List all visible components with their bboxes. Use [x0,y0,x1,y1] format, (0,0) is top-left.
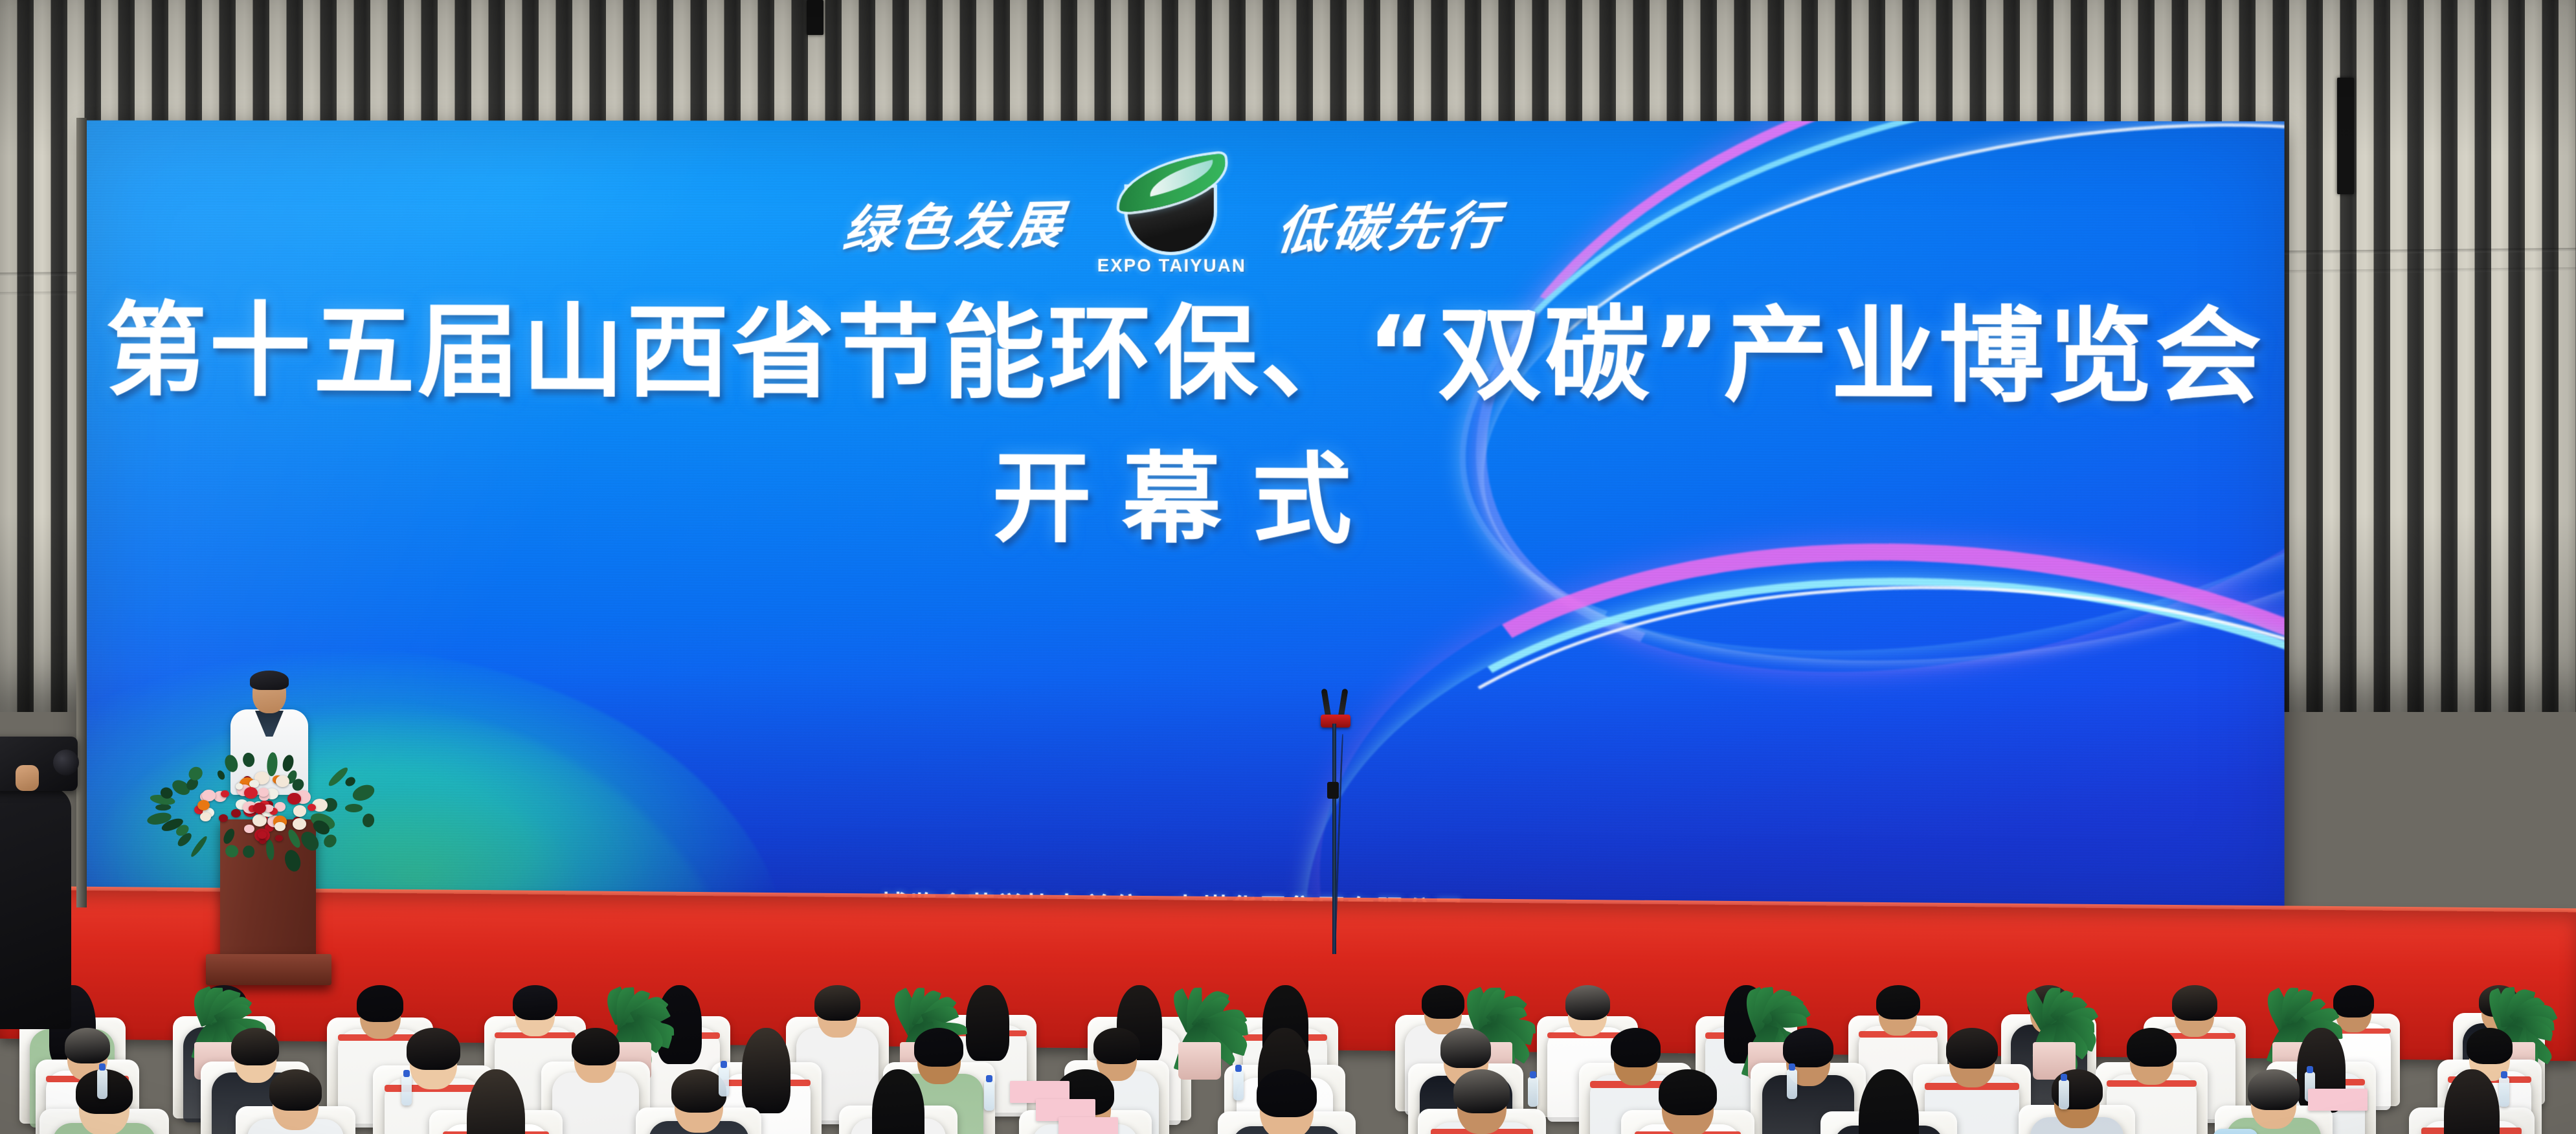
water-bottle [2499,1077,2509,1107]
audience-member [443,1069,550,1134]
water-bottle [97,1069,107,1099]
flower-bloom [221,790,229,798]
expo-main-title: 第十五届山西省节能环保、“双碳”产业博览会 [86,268,2285,423]
audience-member-hair [1257,1069,1317,1117]
plant-pot [1178,1042,1221,1080]
camera-operator [0,725,83,1029]
flower-bloom [231,809,241,817]
audience-member-hair [2248,1069,2300,1110]
flower-foliage [286,828,302,849]
audience-member-hair [513,985,557,1020]
audience-member-hair [2127,1028,2176,1067]
audience-member-hair [1440,1028,1492,1068]
flower-bloom [219,814,228,822]
water-bottle [401,1076,412,1106]
audience-member-hair [2172,985,2217,1021]
flower-bloom [287,793,300,805]
audience-member [552,1028,639,1134]
flower-foliage [344,775,357,788]
flower-bloom [258,788,269,797]
flower-foliage [224,843,240,858]
flower-foliage [189,834,208,858]
audience-member-hair [1659,1069,1718,1115]
flower-bloom [276,775,289,787]
flower-bloom [259,838,266,845]
seat-name-card [2308,1089,2368,1111]
audience-member-hair [65,1028,110,1063]
water-bottle [1787,1069,1797,1099]
flower-bloom [308,804,316,811]
flower-bloom [244,825,254,834]
audience-member [2030,1069,2123,1134]
water-bottle [1233,1071,1244,1100]
audience-member-hair [1611,1028,1661,1067]
podium-flower-arrangement [174,747,357,869]
flower-foliage [241,752,254,768]
flower-bloom [200,812,210,821]
audience-member-hair [1093,1028,1139,1064]
audience-member [1834,1069,1943,1134]
led-backdrop-screen: 绿色发展 EXPO TAIYUAN 低碳先行 第十五届山西省节能环保、“双碳”产… [84,120,2285,924]
flower-bloom [293,805,306,816]
leaf-coal-icon [1113,155,1231,253]
operator-body [0,787,71,1029]
audience-area [0,875,2576,1134]
audience-member-hair [814,985,860,1021]
slogan-right: 低碳先行 [1273,184,1506,263]
audience-member [1635,1069,1742,1134]
audience-member [851,1069,946,1134]
audience-member-hair [231,1028,279,1065]
audience-member-hair [269,1069,322,1111]
slogan-left: 绿色发展 [840,184,1071,262]
flower-bloom [274,822,286,832]
audience-member-hair [1876,985,1920,1019]
flower-foliage [266,752,278,777]
audience-member-hair [2444,1069,2499,1134]
audience-member-hair [914,1028,963,1067]
flower-foliage [221,827,237,846]
flower-bloom [293,818,306,830]
flower-foliage [216,769,226,781]
audience-member [1232,1069,1342,1134]
ceremony-photo: 绿色发展 EXPO TAIYUAN 低碳先行 第十五届山西省节能环保、“双碳”产… [0,0,2576,1134]
speaker-hair [250,671,289,690]
water-bottle [1528,1077,1538,1107]
flower-foliage [243,845,255,858]
audience-member-hair [742,1028,790,1113]
flower-foliage [265,839,274,860]
audience-member-hair [2467,1028,2513,1064]
audience-member [1431,1069,1533,1134]
operator-hand [16,765,39,791]
audience-member [247,1069,344,1134]
flower-bloom [275,835,283,841]
audience-member-hair [1783,1028,1833,1067]
flower-bloom [236,783,243,789]
flower-foliage [223,753,240,773]
audience-member-hair [1946,1028,1998,1069]
audience-member [649,1069,749,1134]
audience-member-hair [407,1028,460,1070]
water-bottle [984,1081,994,1111]
ceiling-vent-slot [807,0,823,35]
ceiling-vent-slot [2337,78,2354,194]
audience-member-hair [1859,1069,1919,1134]
audience-member-hair [572,1028,620,1065]
flower-foliage [322,832,339,850]
camera-lens-icon [53,750,79,775]
audience-member-hair [1453,1069,1510,1113]
face-mask [2213,1129,2258,1134]
audience-member-hair [1565,985,1610,1020]
audience-member-hair [467,1069,526,1134]
audience-member-hair [357,985,403,1022]
audience-member-hair [872,1069,924,1134]
flower-bloom [244,787,258,799]
flower-bloom [258,831,267,839]
opening-ceremony-title: 开幕式 [86,416,2285,568]
water-bottle [2059,1080,2069,1109]
seat-name-card [1058,1117,1118,1134]
flower-bloom [197,800,210,810]
microphone-clamp [1327,782,1339,799]
water-bottle [719,1067,729,1096]
flower-foliage [345,804,363,812]
